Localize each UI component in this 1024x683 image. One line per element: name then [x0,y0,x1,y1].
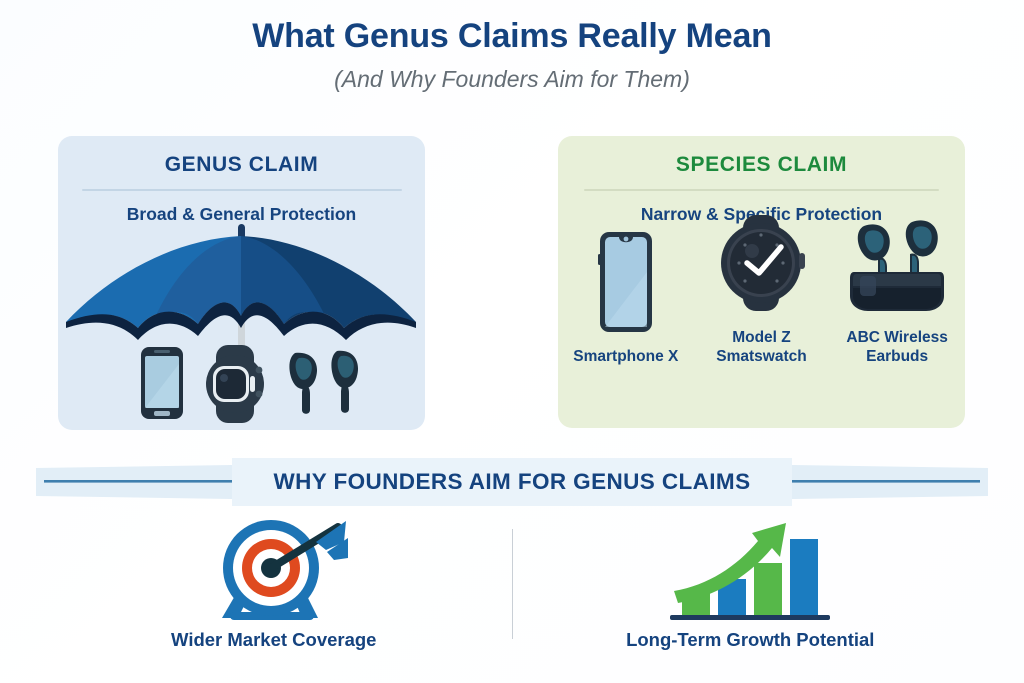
umbrella-device-earbuds [289,351,358,414]
genus-panel-subheading: Broad & General Protection [58,204,425,225]
species-item-smartwatch: Model Z Smatswatch [699,207,824,367]
benefit-long-term-growth: Long-Term Growth Potential [513,515,989,651]
benefit-wider-market-coverage: Wider Market Coverage [36,515,512,651]
page-title: What Genus Claims Really Mean [0,18,1024,55]
infographic-canvas: What Genus Claims Really Mean (And Why F… [0,0,1024,683]
species-item-smartphone: Smartphone X [563,226,688,367]
genus-claim-panel: GENUS CLAIM Broad & General Protection [58,136,425,430]
why-founders-banner: WHY FOUNDERS AIM FOR GENUS CLAIMS [36,458,988,506]
bar-4 [790,539,818,617]
species-item-earbuds: ABC Wireless Earbuds [835,207,960,367]
benefit-label: Long-Term Growth Potential [513,629,989,651]
genus-panel-heading: GENUS CLAIM [58,136,425,177]
earbuds-case-icon [835,207,960,319]
species-items-row: Smartphone X [558,232,965,367]
genus-panel-divider [82,189,402,191]
chart-baseline [670,615,830,620]
smartphone-icon [563,226,688,338]
species-item-label: ABC Wireless Earbuds [835,329,960,367]
species-panel-divider [584,189,939,191]
target-arrow-icon [36,515,512,623]
banner-text: WHY FOUNDERS AIM FOR GENUS CLAIMS [36,458,988,506]
species-claim-panel: SPECIES CLAIM Narrow & Specific Protecti… [558,136,965,428]
species-item-label: Smartphone X [563,348,688,367]
header: What Genus Claims Really Mean (And Why F… [0,18,1024,93]
bar-3 [754,563,782,617]
smartwatch-icon [699,207,824,319]
page-subtitle: (And Why Founders Aim for Them) [0,67,1024,92]
umbrella-illustration [58,224,425,424]
growth-bar-chart-icon [513,515,989,623]
species-item-label: Model Z Smatswatch [699,329,824,367]
benefit-label: Wider Market Coverage [36,629,512,651]
umbrella-device-smartphone [141,347,183,419]
umbrella-device-smartwatch [206,345,264,423]
benefits-row: Wider Market Coverage Long-Term Growth P… [36,515,988,665]
species-panel-heading: SPECIES CLAIM [558,136,965,177]
